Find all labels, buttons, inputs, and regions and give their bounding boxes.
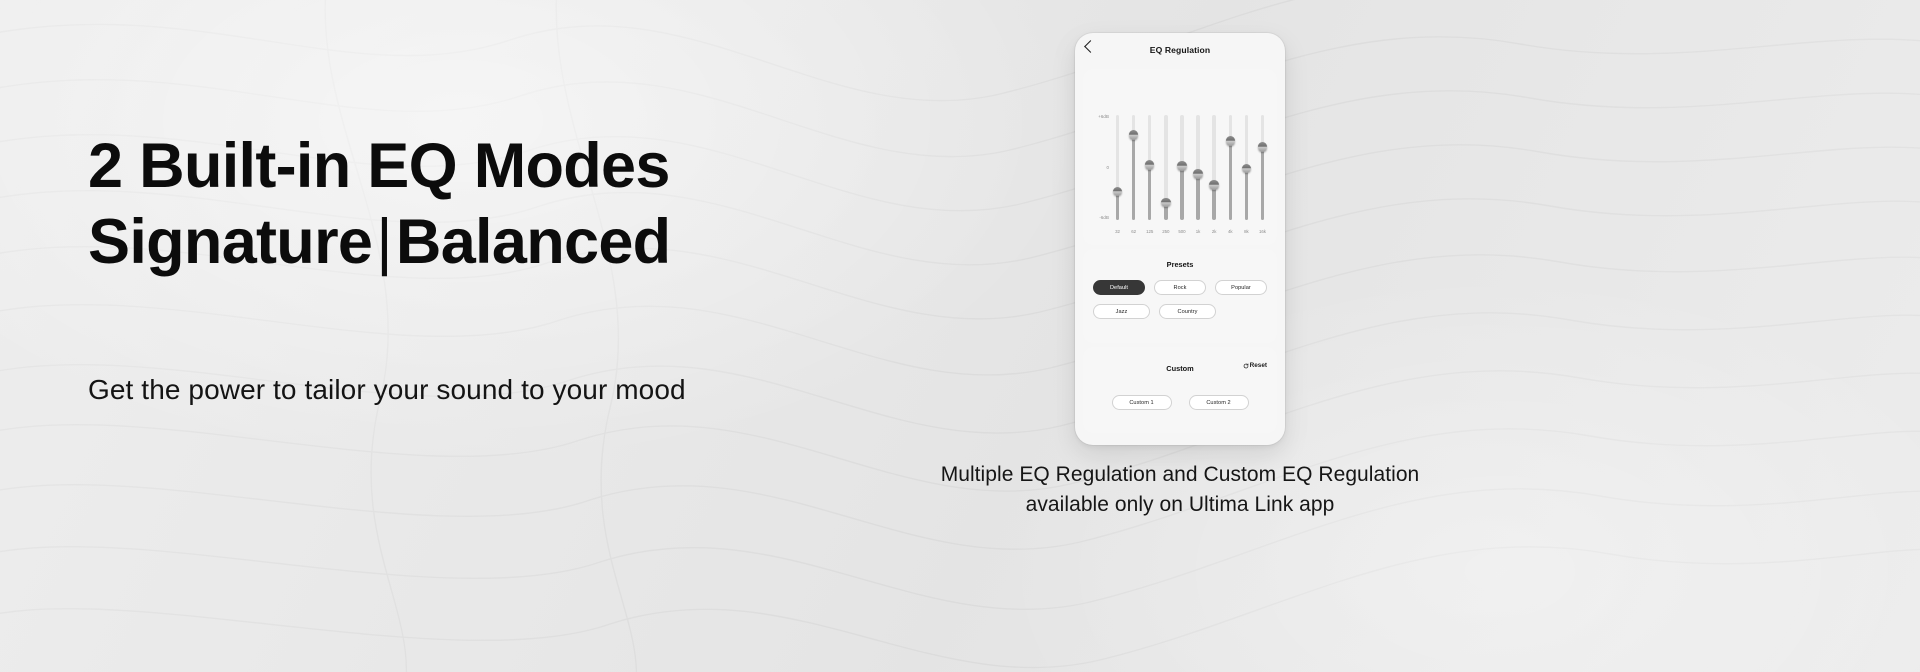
footnote-caption: Multiple EQ Regulation and Custom EQ Reg… <box>884 460 1476 520</box>
slider-track-fill <box>1180 166 1183 220</box>
frequency-label-8k: 8k <box>1241 229 1252 234</box>
frequency-label-4k: 4k <box>1225 229 1236 234</box>
presets-section: Presets DefaultRockPopular JazzCountry <box>1083 249 1277 343</box>
caption-line-2: available only on Ultima Link app <box>884 490 1476 520</box>
slider-track-fill <box>1148 165 1151 220</box>
slider-track-fill <box>1132 135 1135 220</box>
presets-header: Presets <box>1093 257 1267 271</box>
preset-row-bottom: JazzCountry <box>1093 304 1267 319</box>
slider-thumb[interactable] <box>1129 130 1139 140</box>
eq-slider-group[interactable] <box>1112 115 1268 220</box>
preset-chip-popular[interactable]: Popular <box>1215 280 1267 295</box>
headline-balanced: Balanced <box>396 207 671 277</box>
eq-slider-16k[interactable] <box>1257 115 1268 220</box>
caption-line-1: Multiple EQ Regulation and Custom EQ Reg… <box>884 460 1476 490</box>
preset-chip-default[interactable]: Default <box>1093 280 1145 295</box>
slider-thumb[interactable] <box>1226 136 1236 146</box>
preset-chip-country[interactable]: Country <box>1159 304 1216 319</box>
slider-thumb[interactable] <box>1145 160 1155 170</box>
eq-slider-1k[interactable] <box>1193 115 1204 220</box>
axis-label-zero: 0 <box>1087 165 1109 170</box>
eq-slider-62[interactable] <box>1128 115 1139 220</box>
hero-copy: 2 Built-in EQ Modes Signature|Balanced <box>88 128 968 280</box>
custom-chip-custom-1[interactable]: Custom 1 <box>1112 395 1172 410</box>
custom-chip-row: Custom 1Custom 2 <box>1093 395 1267 410</box>
custom-section: Custom Reset Custom 1Custom 2 <box>1083 347 1277 433</box>
slider-track-fill <box>1245 168 1248 220</box>
frequency-label-16k: 16k <box>1257 229 1268 234</box>
slider-thumb[interactable] <box>1177 161 1187 171</box>
axis-label-max: +6dB <box>1087 114 1109 119</box>
background-sheen-overlay <box>0 0 1920 672</box>
chevron-left-icon[interactable] <box>1084 40 1097 53</box>
eq-slider-8k[interactable] <box>1241 115 1252 220</box>
eq-slider-500[interactable] <box>1176 115 1187 220</box>
topographic-background-pattern <box>0 0 1920 672</box>
frequency-label-1k: 1k <box>1193 229 1204 234</box>
slider-track-fill <box>1229 141 1232 220</box>
preset-chip-rock[interactable]: Rock <box>1154 280 1206 295</box>
axis-label-min: -6dB <box>1087 215 1109 220</box>
eq-slider-32[interactable] <box>1112 115 1123 220</box>
custom-title: Custom <box>1166 364 1194 373</box>
slider-track-fill <box>1196 174 1199 220</box>
reset-button[interactable]: Reset <box>1243 362 1267 369</box>
app-header: EQ Regulation <box>1075 33 1285 67</box>
reset-label: Reset <box>1250 362 1267 369</box>
eq-slider-125[interactable] <box>1144 115 1155 220</box>
frequency-label-row: 32621252505001k2k4k8k16k <box>1112 229 1268 234</box>
frequency-label-2k: 2k <box>1209 229 1220 234</box>
custom-header: Custom Reset <box>1093 361 1267 375</box>
slider-thumb[interactable] <box>1113 187 1123 197</box>
slider-thumb[interactable] <box>1161 198 1171 208</box>
headline-divider: | <box>372 207 396 277</box>
slider-track-fill <box>1212 185 1215 220</box>
frequency-label-250: 250 <box>1160 229 1171 234</box>
slider-thumb[interactable] <box>1209 180 1219 190</box>
slider-thumb[interactable] <box>1193 169 1203 179</box>
frequency-label-125: 125 <box>1144 229 1155 234</box>
preset-chip-jazz[interactable]: Jazz <box>1093 304 1150 319</box>
slider-track-fill <box>1261 147 1264 220</box>
app-title: EQ Regulation <box>1150 45 1211 55</box>
headline-signature: Signature <box>88 207 372 277</box>
eq-slider-250[interactable] <box>1160 115 1171 220</box>
headline-line-1: 2 Built-in EQ Modes <box>88 128 968 204</box>
hero-subheadline: Get the power to tailor your sound to yo… <box>88 371 686 409</box>
slider-thumb[interactable] <box>1258 142 1268 152</box>
frequency-label-62: 62 <box>1128 229 1139 234</box>
presets-title: Presets <box>1167 260 1194 269</box>
frequency-label-32: 32 <box>1112 229 1123 234</box>
preset-row-top: DefaultRockPopular <box>1093 280 1267 295</box>
hero-banner: 2 Built-in EQ Modes Signature|Balanced G… <box>0 0 1920 672</box>
slider-thumb[interactable] <box>1242 164 1252 174</box>
refresh-icon <box>1243 363 1249 369</box>
custom-chip-custom-2[interactable]: Custom 2 <box>1189 395 1249 410</box>
headline-line-2: Signature|Balanced <box>88 204 968 280</box>
frequency-label-500: 500 <box>1176 229 1187 234</box>
eq-slider-2k[interactable] <box>1209 115 1220 220</box>
eq-slider-4k[interactable] <box>1225 115 1236 220</box>
phone-mockup: EQ Regulation +6dB 0 -6dB 32621252505001… <box>1075 33 1285 445</box>
equalizer-panel: +6dB 0 -6dB 32621252505001k2k4k8k16k <box>1083 69 1277 245</box>
